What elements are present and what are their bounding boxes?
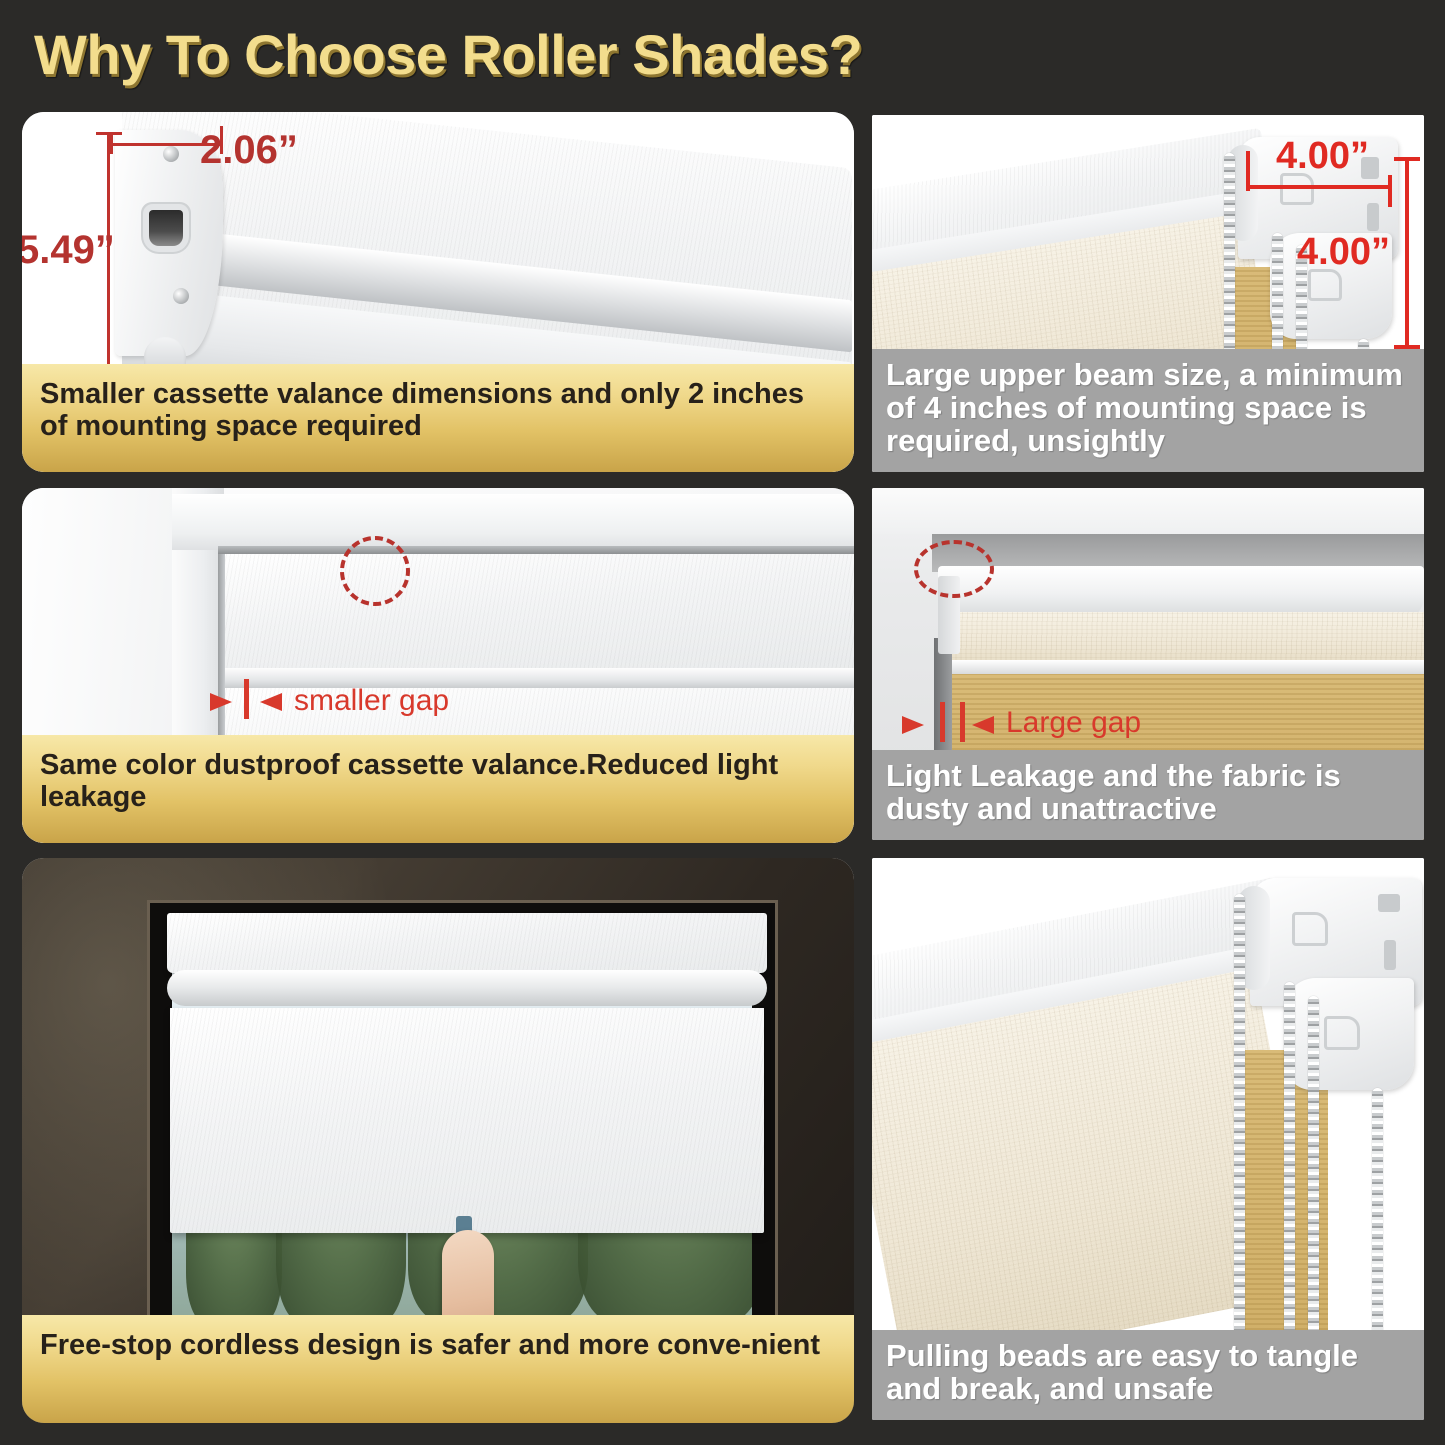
valance-bottom-rail	[167, 970, 767, 1006]
caption-bottom-right: Pulling beads are easy to tangle and bre…	[872, 1330, 1424, 1420]
smaller-gap-label: smaller gap	[294, 684, 449, 718]
bracket-icon-lower	[1308, 269, 1342, 301]
end-cap-screw-mid	[173, 288, 189, 304]
caption-bottom-left: Free-stop cordless design is safer and m…	[22, 1315, 854, 1423]
window-trim-top	[172, 494, 854, 550]
beam-height-label: 4.00”	[1297, 233, 1390, 271]
caption-top-left: Smaller cassette valance dimensions and …	[22, 364, 854, 472]
roller-shade-fabric	[170, 1008, 764, 1233]
gap-highlight-circle	[340, 536, 410, 606]
beam-width-label: 4.00”	[1276, 137, 1369, 175]
end-cap-screw-top	[163, 146, 179, 162]
gap-highlight-circle	[914, 540, 994, 598]
panel-middle-right: Large gap Light Leakage and the fabric i…	[872, 488, 1424, 840]
bead-chain-mid	[1284, 982, 1295, 1380]
gap-arrow-right	[972, 716, 994, 734]
wall-behind	[872, 488, 1424, 534]
caption-top-right: Large upper beam size, a minimum of 4 in…	[872, 349, 1424, 472]
beam-height-tick-bottom	[1394, 345, 1420, 349]
end-cap-slot	[149, 210, 183, 246]
depth-dimension-label: 2.06”	[200, 130, 298, 170]
gap-arrow-left	[902, 716, 924, 734]
panel-bottom-right: Pulling beads are easy to tangle and bre…	[872, 858, 1424, 1420]
gap-marker-bar-right	[960, 702, 965, 742]
beam-width-tick-left	[1246, 151, 1250, 191]
bracket-icon-upper	[1280, 173, 1314, 205]
caption-middle-left: Same color dustproof cassette valance.Re…	[22, 735, 854, 843]
panel-bottom-left: Free-stop cordless design is safer and m…	[22, 858, 854, 1423]
beam-width-tick-right	[1388, 175, 1392, 207]
cassette-valance-head	[167, 913, 767, 973]
gap-arrow-left	[210, 693, 232, 711]
bracket-icon-lower	[1324, 1016, 1360, 1050]
bracket-slot-b	[1384, 940, 1396, 970]
caption-middle-right: Light Leakage and the fabric is dusty an…	[872, 750, 1424, 840]
comparison-grid: 5.49” 2.06” Smaller cassette valance dim…	[0, 0, 1445, 1445]
height-dim-tick-top	[96, 132, 122, 135]
gap-marker-bar-left	[940, 702, 945, 742]
bracket-slot-a	[1378, 894, 1400, 912]
gap-arrow-right	[260, 693, 282, 711]
depth-dim-tick-left	[110, 132, 113, 154]
beam-height-tick-top	[1394, 157, 1420, 161]
cassette-valance-head	[222, 554, 854, 672]
bead-chain-left	[1234, 894, 1245, 1380]
window-trim-inner-edge	[218, 546, 854, 554]
fabric-edge-shine	[942, 660, 1424, 674]
panel-top-left: 5.49” 2.06” Smaller cassette valance dim…	[22, 112, 854, 472]
beam-width-dim-line	[1246, 185, 1392, 189]
panel-top-right: 4.00” 4.00” Large upper beam size, a min…	[872, 115, 1424, 472]
large-gap-label: Large gap	[1006, 706, 1141, 740]
beam-height-dim-line	[1405, 157, 1409, 349]
bead-chain-right	[1308, 996, 1319, 1380]
height-dimension-label: 5.49”	[22, 230, 115, 270]
bracket-icon-upper	[1292, 912, 1328, 946]
infographic-page: Why To Choose Roller Shades? 5.49”	[0, 0, 1445, 1445]
gap-marker-bar	[244, 679, 249, 719]
panel-middle-left: smaller gap Same color dustproof cassett…	[22, 488, 854, 843]
bracket-slot-b	[1367, 203, 1379, 231]
cream-fabric-band	[942, 612, 1424, 666]
